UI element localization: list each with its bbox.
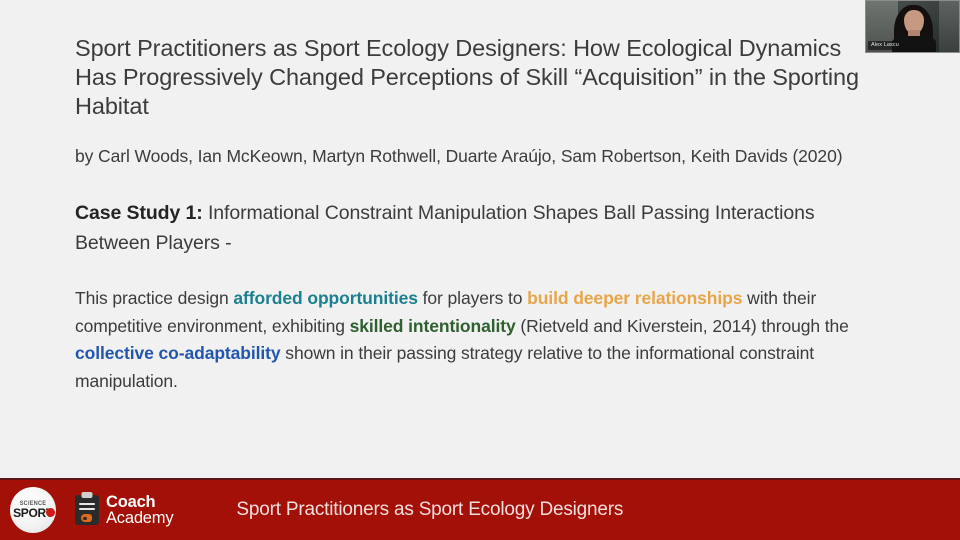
paragraph-segment-4: (Rietveld and Kiverstein, 2014) through … [516, 316, 849, 336]
webcam-wall-right [939, 1, 959, 52]
coach-academy-line1: Coach [106, 494, 173, 510]
clipboard-clip-icon [82, 492, 93, 498]
coach-academy-logo: Coach Academy [75, 494, 173, 526]
highlight-collective-co-adaptability: collective co-adaptability [75, 343, 281, 363]
science-for-sport-logo: SCIENCE SPORT [10, 487, 56, 533]
ball-icon [46, 508, 55, 517]
highlight-afforded-opportunities: afforded opportunities [233, 288, 417, 308]
coach-academy-wordmark: Coach Academy [106, 494, 173, 526]
clipboard-whistle-icon [75, 495, 99, 525]
highlight-skilled-intentionality: skilled intentionality [350, 316, 516, 336]
presentation-slide: Sport Practitioners as Sport Ecology Des… [0, 0, 960, 540]
whistle-icon [81, 514, 92, 522]
coach-academy-line2: Academy [106, 510, 173, 526]
case-study-heading: Case Study 1: Informational Constraint M… [75, 198, 880, 258]
highlight-build-deeper-relationships: build deeper relationships [527, 288, 742, 308]
case-study-label: Case Study 1: [75, 202, 203, 224]
authors-line: by Carl Woods, Ian McKeown, Martyn Rothw… [75, 142, 880, 170]
clipboard-line-icon [79, 508, 95, 510]
paragraph-segment-1: This practice design [75, 288, 233, 308]
webcam-participant-name: Alex Lascu [868, 41, 902, 50]
page-title: Sport Practitioners as Sport Ecology Des… [75, 34, 880, 121]
slide-content: Sport Practitioners as Sport Ecology Des… [75, 34, 880, 395]
paragraph-segment-2: for players to [418, 288, 527, 308]
slide-footer-bar: SCIENCE SPORT Coach Academy Sport Practi… [0, 478, 960, 540]
footer-title: Sport Practitioners as Sport Ecology Des… [236, 499, 623, 521]
science-for-sport-logo-main-text: SPORT [13, 507, 53, 519]
clipboard-line-icon [79, 503, 95, 505]
body-paragraph: This practice design afforded opportunit… [75, 285, 880, 395]
webcam-video-tile[interactable]: Alex Lascu [865, 0, 960, 53]
